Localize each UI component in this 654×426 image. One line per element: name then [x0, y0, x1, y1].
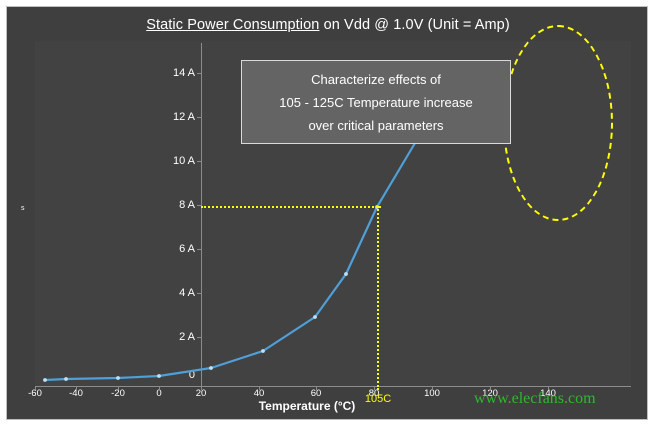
callout-line-1: Characterize effects of — [242, 68, 510, 91]
y-tick-mark — [197, 249, 201, 250]
horizontal-guide-8A — [201, 206, 381, 208]
y-tick-mark — [197, 161, 201, 162]
x-tick-mark — [259, 386, 260, 390]
y-axis-line — [201, 43, 202, 387]
chart-frame: Static Power Consumption on Vdd @ 1.0V (… — [6, 6, 648, 420]
x-tick-mark — [76, 386, 77, 390]
callout-line-3: over critical parameters — [242, 114, 510, 137]
x-tick-mark — [35, 386, 36, 390]
chart-title-rest: on Vdd @ 1.0V (Unit = Amp) — [319, 17, 509, 33]
y-tick-label: 4 A — [155, 287, 195, 299]
marker-105c-label: 105C — [348, 393, 408, 405]
y-tick-mark — [197, 117, 201, 118]
y-tick-label: 0 — [155, 369, 195, 381]
y-tick-label: 12 A — [155, 111, 195, 123]
y-tick-mark — [197, 337, 201, 338]
y-tick-label: 8 A — [155, 199, 195, 211]
x-tick-mark — [432, 386, 433, 390]
y-tick-mark — [197, 293, 201, 294]
callout-line-2: 105 - 125C Temperature increase — [242, 91, 510, 114]
x-tick-mark — [201, 386, 202, 390]
y-tick-label: 14 A — [155, 67, 195, 79]
x-tick-mark — [374, 386, 375, 390]
x-tick-mark — [118, 386, 119, 390]
y-axis-title: s — [21, 205, 25, 212]
x-tick-mark — [159, 386, 160, 390]
watermark: www.elecfans.com — [474, 390, 596, 408]
y-tick-label: 6 A — [155, 243, 195, 255]
x-tick-mark — [316, 386, 317, 390]
callout-box: Characterize effects of 105 - 125C Tempe… — [241, 60, 511, 144]
highlight-ellipse — [503, 25, 613, 221]
chart-title-underlined: Static Power Consumption — [146, 17, 319, 33]
screenshot-root: Static Power Consumption on Vdd @ 1.0V (… — [0, 0, 654, 426]
y-tick-mark — [197, 73, 201, 74]
y-tick-label: 10 A — [155, 155, 195, 167]
y-tick-label: 2 A — [155, 331, 195, 343]
x-axis-line — [35, 386, 631, 387]
vertical-guide-105C — [377, 206, 379, 390]
